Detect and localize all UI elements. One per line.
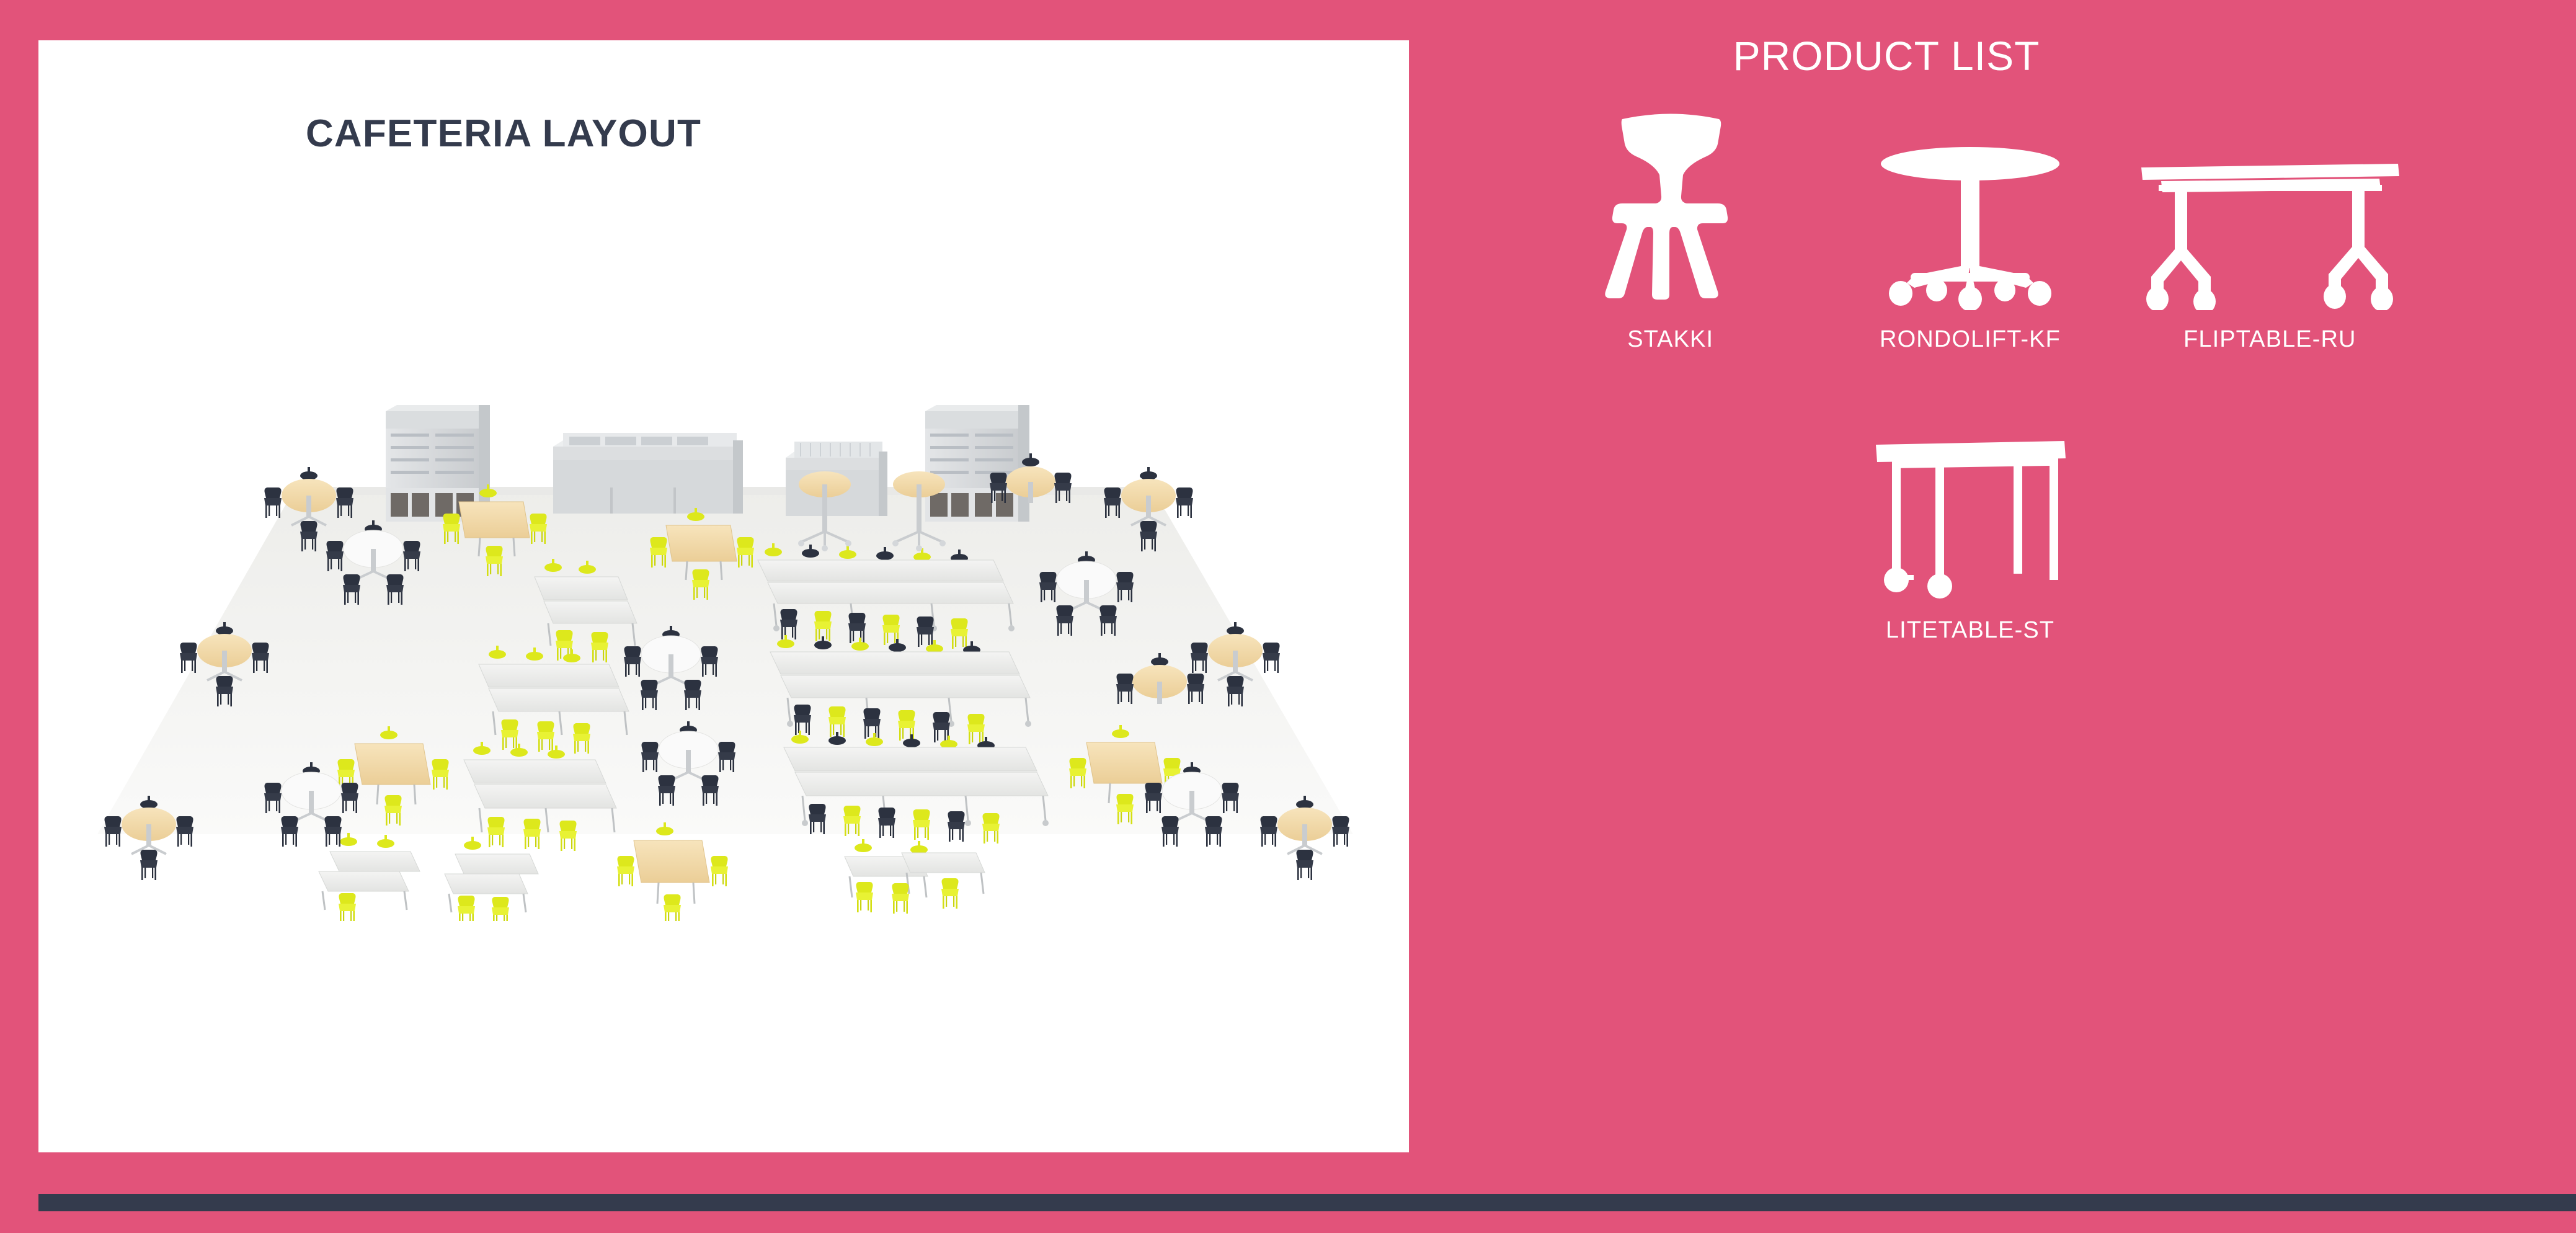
product-card-rondolift-kf[interactable]: RONDOLIFT-KF [1820, 105, 2120, 353]
product-label: LITETABLE-ST [1886, 617, 2054, 644]
product-label: RONDOLIFT-KF [1880, 326, 2061, 353]
slide-canvas: CAFETERIA LAYOUT [0, 0, 2576, 1233]
cafeteria-3d-render [38, 363, 1409, 921]
product-card-stakki[interactable]: STAKKI [1521, 105, 1820, 353]
service-counter-center [553, 433, 743, 514]
flip-table-icon [2120, 105, 2420, 310]
lite-table-icon [1820, 396, 2120, 601]
product-grid: STAKKI RONDOL [1521, 105, 2420, 687]
front-flip-tables-mid [445, 837, 538, 921]
product-card-fliptable-ru[interactable]: FLIPTABLE-RU [2120, 105, 2420, 353]
front-flip-tables-left [319, 833, 420, 921]
stacking-chair-icon [1521, 105, 1820, 310]
round-lift-table-icon [1820, 105, 2120, 310]
product-label: FLIPTABLE-RU [2183, 326, 2356, 353]
cafeteria-layout-panel: CAFETERIA LAYOUT [38, 40, 1409, 1152]
product-card-litetable-st[interactable]: LITETABLE-ST [1820, 396, 2120, 644]
storage-unit-right [925, 405, 1029, 522]
product-label: STAKKI [1627, 326, 1713, 353]
page-title: CAFETERIA LAYOUT [38, 112, 969, 156]
product-list-title: PRODUCT LIST [1409, 32, 2364, 79]
wood-table-front-center [617, 822, 728, 921]
product-list-panel: PRODUCT LIST STAKKI [1409, 0, 2576, 1194]
footer-bar [38, 1194, 2576, 1211]
front-flip-tables-right [845, 839, 985, 914]
